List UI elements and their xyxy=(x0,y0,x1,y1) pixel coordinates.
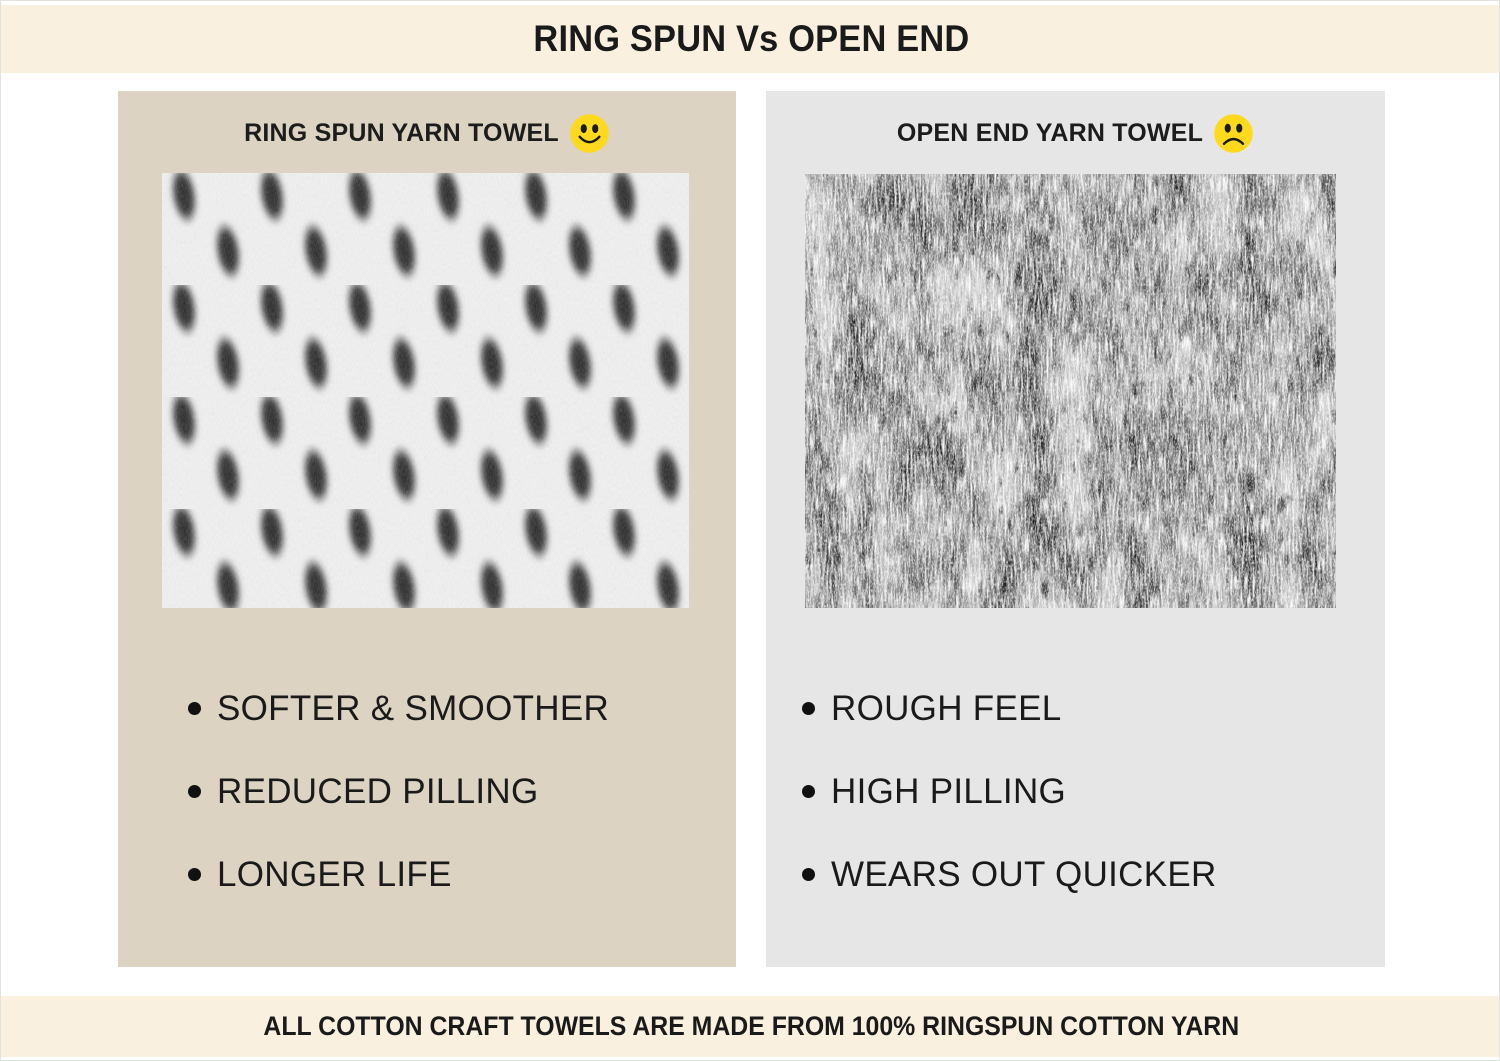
bullet-dot-icon xyxy=(802,702,815,715)
list-item: WEARS OUT QUICKER xyxy=(802,857,1385,892)
ring-spun-texture-image xyxy=(162,173,689,608)
page-title: RING SPUN Vs OPEN END xyxy=(533,18,969,60)
frowning-face-icon xyxy=(1213,113,1254,154)
panel-open-end-header: OPEN END YARN TOWEL xyxy=(766,91,1385,153)
footer-band: ALL COTTON CRAFT TOWELS ARE MADE FROM 10… xyxy=(1,996,1500,1057)
panel-open-end: OPEN END YARN TOWEL xyxy=(766,91,1385,967)
bullet-dot-icon xyxy=(802,785,815,798)
list-item: ROUGH FEEL xyxy=(802,691,1385,726)
bullet-label: HIGH PILLING xyxy=(831,774,1066,809)
open-end-bullet-list: ROUGH FEEL HIGH PILLING WEARS OUT QUICKE… xyxy=(766,691,1385,940)
bullet-dot-icon xyxy=(188,868,201,881)
bullet-label: LONGER LIFE xyxy=(217,857,452,892)
list-item: REDUCED PILLING xyxy=(188,774,736,809)
panel-ring-spun: RING SPUN YARN TOWEL xyxy=(118,91,736,967)
panel-ring-spun-header: RING SPUN YARN TOWEL xyxy=(118,91,736,153)
bullet-dot-icon xyxy=(188,785,201,798)
bullet-dot-icon xyxy=(188,702,201,715)
bullet-dot-icon xyxy=(802,868,815,881)
infographic-page: RING SPUN Vs OPEN END RING SPUN YARN TOW… xyxy=(0,0,1500,1061)
open-end-texture-image xyxy=(805,174,1336,608)
header-band: RING SPUN Vs OPEN END xyxy=(1,5,1500,73)
list-item: LONGER LIFE xyxy=(188,857,736,892)
smiling-face-icon xyxy=(569,113,610,154)
bullet-label: REDUCED PILLING xyxy=(217,774,539,809)
ring-spun-bullet-list: SOFTER & SMOOTHER REDUCED PILLING LONGER… xyxy=(118,691,736,940)
panel-ring-spun-heading: RING SPUN YARN TOWEL xyxy=(244,119,559,148)
list-item: HIGH PILLING xyxy=(802,774,1385,809)
bullet-label: ROUGH FEEL xyxy=(831,691,1062,726)
panel-open-end-heading: OPEN END YARN TOWEL xyxy=(897,119,1203,148)
bullet-label: SOFTER & SMOOTHER xyxy=(217,691,609,726)
list-item: SOFTER & SMOOTHER xyxy=(188,691,736,726)
bullet-label: WEARS OUT QUICKER xyxy=(831,857,1217,892)
footer-message: ALL COTTON CRAFT TOWELS ARE MADE FROM 10… xyxy=(263,1011,1239,1042)
